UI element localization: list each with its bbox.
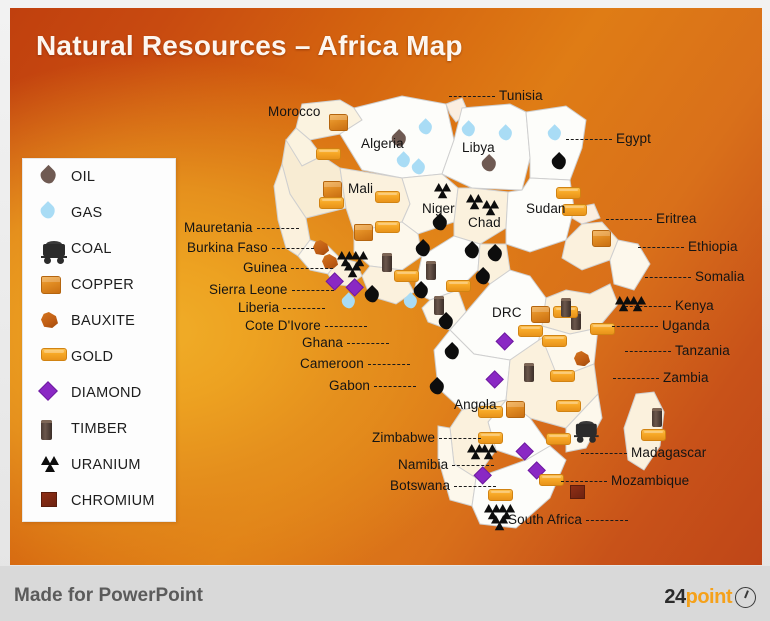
diamond-icon	[37, 378, 67, 408]
country-label-liberia: Liberia	[238, 300, 279, 315]
timber-log-icon	[37, 414, 67, 444]
legend-item-label: GOLD	[71, 349, 113, 365]
legend-item-label: CHROMIUM	[71, 493, 155, 509]
country-label-gabon: Gabon	[329, 378, 370, 393]
country-label-ethiopia: Ethiopia	[688, 239, 738, 254]
leader-line	[452, 465, 494, 466]
oil-droplet-icon	[37, 162, 67, 192]
logo-prefix: 24	[664, 586, 685, 609]
leader-line	[625, 351, 671, 352]
logo-suffix: point	[686, 586, 732, 609]
country-label-cote-d-ivore: Cote D'Ivore	[245, 318, 321, 333]
legend-item-label: DIAMOND	[71, 385, 142, 401]
country-label-cameroon: Cameroon	[300, 356, 364, 371]
legend-item-chromium[interactable]: CHROMIUM	[23, 483, 175, 519]
brand-logo[interactable]: 24 point	[664, 586, 756, 609]
leader-line	[347, 343, 389, 344]
chromium-icon	[37, 486, 67, 516]
country-label-angola: Angola	[454, 397, 497, 412]
leader-line	[374, 386, 416, 387]
country-label-madagascar: Madagascar	[631, 445, 706, 460]
leader-line	[581, 453, 627, 454]
country-label-libya: Libya	[462, 140, 495, 155]
country-label-egypt: Egypt	[616, 131, 651, 146]
legend-item-label: URANIUM	[71, 457, 141, 473]
country-label-tunisia: Tunisia	[499, 88, 543, 103]
copper-chunk-icon	[37, 270, 67, 300]
country-label-sierra-leone: Sierra Leone	[209, 282, 288, 297]
leader-line	[257, 228, 299, 229]
country-label-algeria: Algeria	[361, 136, 404, 151]
legend-item-diamond[interactable]: DIAMOND	[23, 375, 175, 411]
country-label-mauretania: Mauretania	[184, 220, 253, 235]
legend-item-oil[interactable]: OIL	[23, 159, 175, 195]
legend-item-label: COAL	[71, 241, 112, 257]
leader-line	[586, 520, 628, 521]
uranium-icon	[37, 450, 67, 480]
country-label-somalia: Somalia	[695, 269, 744, 284]
leader-line	[561, 481, 607, 482]
leader-line	[449, 96, 495, 97]
legend-item-label: COPPER	[71, 277, 134, 293]
legend-item-coal[interactable]: COAL	[23, 231, 175, 267]
legend-item-copper[interactable]: COPPER	[23, 267, 175, 303]
country-label-ghana: Ghana	[302, 335, 343, 350]
legend-item-gas[interactable]: GAS	[23, 195, 175, 231]
leader-line	[291, 268, 333, 269]
country-label-mali: Mali	[348, 181, 373, 196]
legend-item-label: OIL	[71, 169, 95, 185]
country-label-morocco: Morocco	[268, 104, 320, 119]
presentation-slide: Natural Resources – Africa Map	[0, 0, 770, 621]
country-label-zimbabwe: Zimbabwe	[372, 430, 435, 445]
country-label-tanzania: Tanzania	[675, 343, 730, 358]
leader-line	[613, 378, 659, 379]
leader-line	[625, 306, 671, 307]
leader-line	[368, 364, 410, 365]
resource-legend: OILGASCOALCOPPERBAUXITEGOLDDIAMONDTIMBER…	[22, 158, 176, 522]
country-label-zambia: Zambia	[663, 370, 709, 385]
coal-cart-icon	[37, 234, 67, 264]
country-label-uganda: Uganda	[662, 318, 710, 333]
legend-item-gold[interactable]: GOLD	[23, 339, 175, 375]
leader-line	[606, 219, 652, 220]
country-label-drc: DRC	[492, 305, 522, 320]
legend-item-uranium[interactable]: URANIUM	[23, 447, 175, 483]
leader-line	[454, 486, 496, 487]
country-label-south-africa: South Africa	[508, 512, 582, 527]
country-label-mozambique: Mozambique	[611, 473, 689, 488]
legend-item-bauxite[interactable]: BAUXITE	[23, 303, 175, 339]
country-label-guinea: Guinea	[243, 260, 287, 275]
country-label-burkina-faso: Burkina Faso	[187, 240, 268, 255]
leader-line	[439, 438, 481, 439]
country-label-sudan: Sudan	[526, 201, 566, 216]
leader-line	[612, 326, 658, 327]
country-label-eritrea: Eritrea	[656, 211, 696, 226]
leader-line	[325, 326, 367, 327]
leader-line	[566, 139, 612, 140]
leader-line	[272, 248, 314, 249]
leader-line	[645, 277, 691, 278]
leader-line	[292, 290, 334, 291]
slide-canvas: Natural Resources – Africa Map	[10, 8, 762, 565]
leader-line	[638, 247, 684, 248]
country-label-niger: Niger	[422, 201, 455, 216]
footer-tagline: Made for PowerPoint	[14, 585, 203, 607]
legend-item-label: BAUXITE	[71, 313, 135, 329]
country-label-chad: Chad	[468, 215, 501, 230]
country-label-botswana: Botswana	[390, 478, 450, 493]
bauxite-lump-icon	[37, 306, 67, 336]
legend-item-label: GAS	[71, 205, 103, 221]
country-label-namibia: Namibia	[398, 457, 448, 472]
gas-droplet-icon	[37, 198, 67, 228]
country-label-kenya: Kenya	[675, 298, 714, 313]
legend-item-timber[interactable]: TIMBER	[23, 411, 175, 447]
legend-item-label: TIMBER	[71, 421, 128, 437]
clock-icon	[735, 587, 756, 608]
leader-line	[283, 308, 325, 309]
gold-bar-icon	[37, 342, 67, 372]
